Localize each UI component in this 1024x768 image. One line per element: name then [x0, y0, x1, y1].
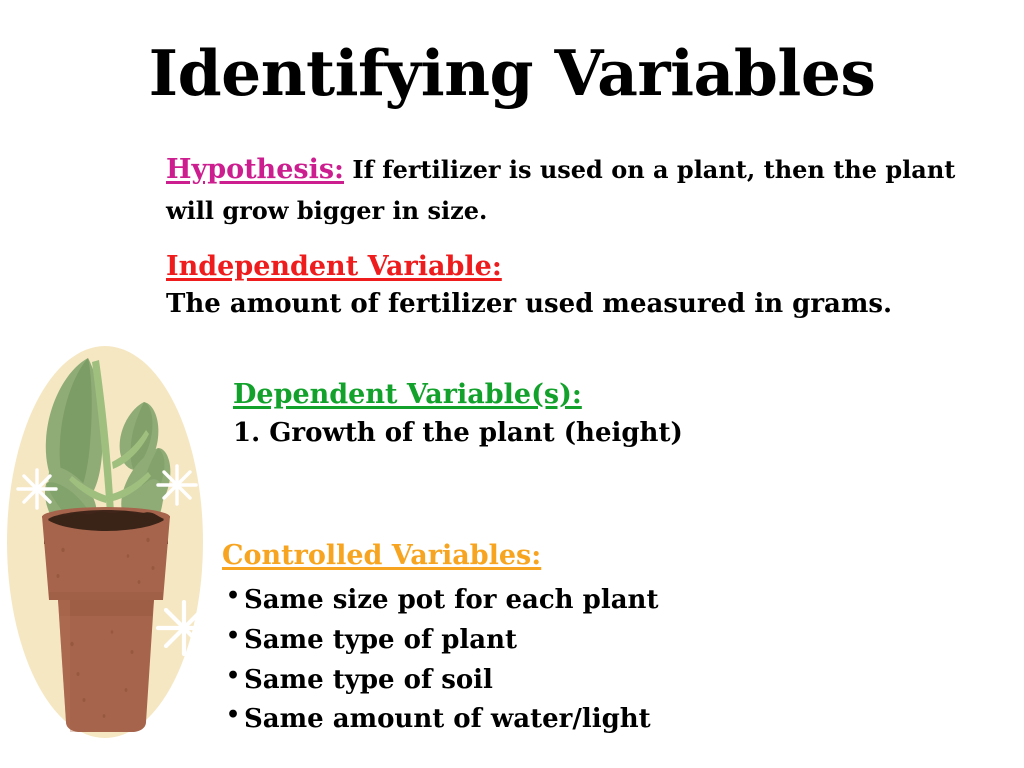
bullet-icon: • — [226, 580, 240, 614]
list-item-label: Same amount of water/light — [244, 704, 651, 734]
list-item-label: Same type of soil — [244, 665, 493, 695]
list-item: •Same type of soil — [226, 661, 926, 701]
controlled-variables-label: Controlled Variables: — [222, 540, 541, 572]
pot-rim-edge — [49, 592, 163, 600]
list-item: •Same amount of water/light — [226, 700, 926, 740]
pot-rim-band — [58, 600, 154, 616]
independent-variable-label: Independent Variable: — [166, 251, 502, 283]
list-item: •Same type of plant — [226, 621, 926, 661]
bullet-icon: • — [226, 660, 240, 694]
bullet-icon: • — [226, 620, 240, 654]
dependent-variable-label: Dependent Variable(s): — [233, 379, 582, 411]
hypothesis-label: Hypothesis: — [166, 154, 344, 185]
sparkle-icon-bottom-right — [158, 602, 210, 654]
list-item-label: Same type of plant — [244, 625, 517, 655]
sparkle-icon-right — [158, 466, 196, 504]
list-item-label: Same size pot for each plant — [244, 585, 658, 615]
dependent-variable-item: 1. Growth of the plant (height) — [233, 417, 683, 451]
list-item: •Same size pot for each plant — [226, 581, 926, 621]
bullet-icon: • — [226, 699, 240, 733]
hypothesis-block: Hypothesis: If fertilizer is used on a p… — [166, 148, 956, 231]
independent-variable-text: The amount of fertilizer used measured i… — [166, 287, 956, 323]
pot-body — [58, 600, 154, 732]
controlled-variables-list: •Same size pot for each plant •Same type… — [226, 581, 926, 740]
page-title: Identifying Variables — [0, 42, 1024, 105]
sparkle-icon-left — [18, 470, 56, 508]
slide-canvas: Identifying Variables Hypothesis: If fer… — [0, 0, 1024, 768]
potted-plant-illustration — [0, 344, 226, 744]
